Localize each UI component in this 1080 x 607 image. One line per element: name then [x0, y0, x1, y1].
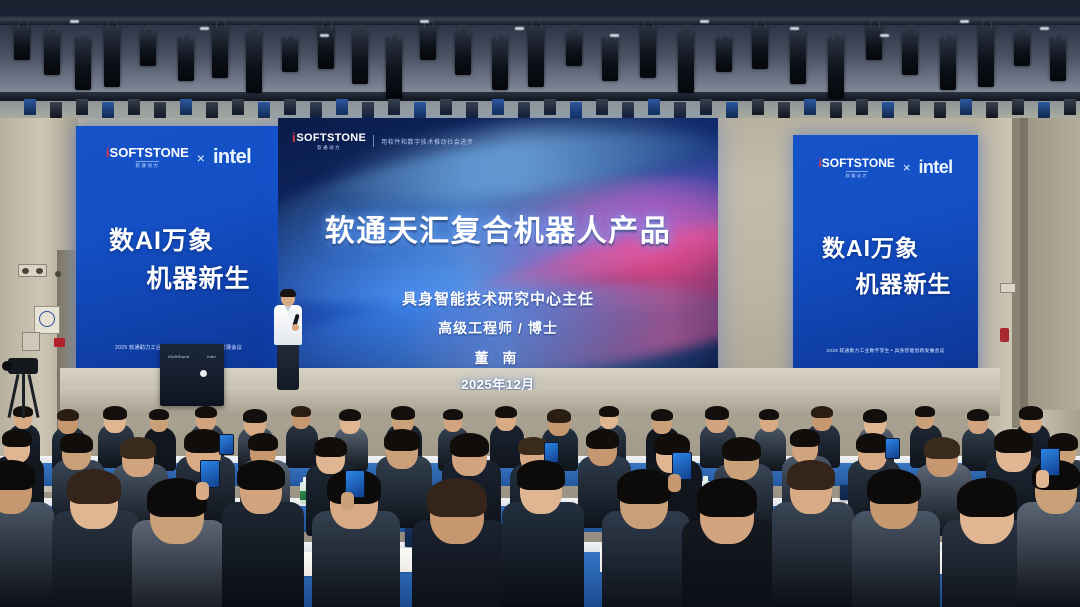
stage-light-small [1064, 99, 1076, 115]
center-logo-text: SOFTSTONE [296, 133, 366, 144]
audience-hair [924, 437, 960, 459]
audience-person-front [222, 502, 304, 607]
stage-spotlight [140, 32, 156, 66]
stage-spotlight [14, 26, 30, 60]
light-glint [420, 20, 429, 23]
audience-hair [1019, 406, 1043, 420]
audience-hair [790, 429, 820, 447]
stage-spotlight [528, 26, 544, 87]
audience-hair [60, 433, 93, 453]
stage-spotlight [246, 32, 262, 93]
audience-hair [586, 429, 619, 449]
stage-light-small [362, 102, 374, 118]
stage-light-small [466, 102, 478, 118]
stage-light-small [804, 99, 816, 115]
stage-spotlight [1014, 32, 1030, 66]
stage-light-small [778, 102, 790, 118]
stage-spotlight [104, 26, 120, 87]
stage-light-small [206, 102, 218, 118]
audience-hair [195, 406, 217, 418]
stage-light-small [232, 99, 244, 115]
audience-hair [120, 437, 156, 459]
stage-spotlight [566, 32, 582, 66]
stage-spotlight [282, 38, 298, 72]
phone-camera [885, 438, 900, 459]
wall-notice-sign [34, 306, 60, 334]
stage-spotlight [940, 38, 956, 90]
side-headline-line1-right: 数AI万象 [793, 229, 978, 263]
stage-light-small [960, 99, 972, 115]
light-glint [700, 20, 709, 23]
audience-hair [314, 437, 347, 457]
audience-hair [915, 406, 935, 417]
stage-light-small [154, 102, 166, 118]
raised-hand [1036, 470, 1049, 488]
audience-hair [391, 406, 415, 420]
logo-separator-left: × [197, 150, 205, 166]
conference-photo: iSOFTSTONE 软通动力 × intel 数AI万象 机器新生 2025 … [0, 0, 1080, 607]
light-glint [200, 27, 209, 30]
stage-light-small [50, 102, 62, 118]
light-glint [320, 34, 329, 37]
stage-light-small [674, 102, 686, 118]
light-glint [960, 20, 969, 23]
audience-hair [384, 429, 420, 451]
audience-hair [339, 409, 361, 421]
ceiling-band [0, 0, 1080, 16]
audience-person-front [502, 502, 584, 607]
stage-light-small [518, 102, 530, 118]
stage-spotlight [978, 26, 994, 87]
audience-hair [291, 406, 311, 417]
audience-hair [599, 406, 619, 417]
phone-camera [219, 434, 234, 455]
stage-spotlight [866, 26, 882, 60]
stage-spotlight [716, 38, 732, 72]
stage-light-small [622, 102, 634, 118]
stage-light-small [388, 99, 400, 115]
audience-hair [184, 429, 223, 453]
light-glint [515, 27, 524, 30]
light-glint [70, 20, 79, 23]
isoftstone-logo-center: iSOFTSTONE 软通动力 用软件和数字技术推动社会进步 [292, 131, 474, 151]
audience-area: 软通动力科技软通动力科技软通动力科技软通动力科技软通动力科技软通动力科技 [0, 352, 1080, 607]
audience-hair [759, 409, 779, 420]
fire-alarm-icon [1000, 328, 1009, 342]
audience-hair [863, 409, 887, 423]
wall-sensor-icon [55, 271, 61, 277]
intel-logo-right: intel [919, 157, 953, 178]
stage-light-small [440, 99, 452, 115]
audience-hair [495, 406, 517, 418]
stage-spotlight [790, 32, 806, 84]
stage-spotlight [640, 26, 656, 78]
video-camera-tripod [2, 358, 46, 418]
light-glint [790, 27, 799, 30]
side-headline-line2-right: 机器新生 [793, 265, 978, 299]
stage-light-small [310, 102, 322, 118]
isoftstone-logo-text-right: SOFTSTONE [822, 156, 895, 170]
light-glint [610, 34, 619, 37]
stage-light-small [1012, 99, 1024, 115]
audience-hair [248, 433, 278, 451]
audience-hair [2, 429, 32, 447]
presentation-title: 软通天汇复合机器人产品 [278, 206, 718, 250]
stage-light-small [830, 102, 842, 118]
audience-hair [443, 409, 463, 420]
audience-hair-front [427, 478, 487, 517]
logo-divider [373, 135, 374, 147]
audience-person-front [772, 502, 854, 607]
stage-spotlight [828, 38, 844, 99]
stage-light-small [128, 99, 140, 115]
audience-hair [103, 406, 127, 420]
intel-logo-left: intel [213, 146, 251, 169]
audience-hair-front [867, 469, 921, 504]
audience-hair-front [957, 478, 1017, 517]
logo-separator-right: × [903, 160, 911, 175]
isoftstone-logo-zh-right: 软通动力 [846, 171, 868, 179]
stage-light-small [284, 99, 296, 115]
stage-light-small [1038, 102, 1050, 118]
audience-hair-front [517, 460, 565, 490]
stage-spotlight [752, 26, 768, 69]
audience-hair [149, 409, 169, 420]
audience-hair-front [67, 469, 121, 504]
stage-light-small [700, 99, 712, 115]
audience-hair [994, 429, 1033, 453]
light-glint [880, 34, 889, 37]
isoftstone-logo-left: iSOFTSTONE 软通动力 [106, 146, 189, 169]
audience-person-front [1017, 502, 1080, 607]
stage-spotlight [212, 26, 228, 78]
stage-spotlight [1050, 38, 1066, 81]
stage-spotlight [386, 38, 402, 99]
stage-spotlight [492, 38, 508, 90]
audience-hair [811, 406, 833, 418]
camera-icon [8, 358, 38, 374]
emergency-light-icon [18, 264, 47, 277]
isoftstone-logo-text: SOFTSTONE [110, 145, 189, 160]
stage-light-small [544, 99, 556, 115]
side-headline-line1-left: 数AI万象 [76, 221, 281, 257]
stage-light-small [258, 102, 270, 118]
camera-lens-icon [2, 361, 12, 371]
stage-light-small [752, 99, 764, 115]
stage-spotlight [602, 38, 618, 81]
raised-hand [196, 482, 209, 500]
center-tagline: 用软件和数字技术推动社会进步 [381, 137, 473, 146]
audience-hair [547, 409, 571, 423]
audience-hair [450, 433, 489, 457]
presenter-role: 具身智能技术研究中心主任 [278, 288, 718, 309]
stage-light-small [414, 102, 426, 118]
stage-light-small [726, 102, 738, 118]
stage-light-small [596, 99, 608, 115]
audience-hair [967, 409, 989, 421]
stage-spotlight [318, 26, 334, 69]
stage-light-small [908, 99, 920, 115]
stage-spotlight [44, 32, 60, 75]
audience-hair-front [787, 460, 835, 490]
fire-extinguisher-sign [54, 338, 65, 347]
stage-light-small [856, 99, 868, 115]
led-screen-center: iSOFTSTONE 软通动力 用软件和数字技术推动社会进步 软通天汇复合机器人… [278, 118, 718, 390]
audience-hair-front [617, 469, 671, 504]
isoftstone-logo-right: iSOFTSTONE 软通动力 [818, 157, 894, 179]
audience-hair [705, 406, 729, 420]
stage-spotlight [678, 32, 694, 93]
stage-light-small [336, 99, 348, 115]
raised-hand [668, 474, 681, 492]
isoftstone-logo-zh: 软通动力 [136, 161, 160, 169]
side-headline-line2-left: 机器新生 [76, 259, 281, 295]
audience-hair [722, 437, 761, 461]
center-logo-dot: i [292, 131, 296, 144]
wall-utility-box [22, 332, 40, 351]
stage-light-small [102, 102, 114, 118]
stage-light-small [492, 99, 504, 115]
stage-light-small [648, 99, 660, 115]
stage-spotlight [455, 32, 471, 75]
stage-spotlight [352, 32, 368, 84]
audience-hair-front [697, 478, 757, 517]
presenter-credentials: 高级工程师 / 博士 [278, 318, 718, 338]
stage-light-small [882, 102, 894, 118]
audience-hair [243, 409, 267, 423]
audience-person-front [0, 502, 54, 607]
center-logo-zh: 软通动力 [292, 145, 366, 151]
stage-light-small [570, 102, 582, 118]
audience-hair [57, 409, 79, 421]
stage-spotlight [420, 26, 436, 60]
stage-light-small [934, 102, 946, 118]
stage-light-small [76, 99, 88, 115]
audience-hair [651, 409, 673, 421]
stage-spotlight [902, 32, 918, 75]
stage-spotlight [75, 38, 91, 90]
stage-light-small [180, 99, 192, 115]
raised-hand [341, 492, 354, 510]
stage-light-small [986, 102, 998, 118]
wall-plate-right [1000, 283, 1016, 293]
stage-light-small [24, 99, 36, 115]
audience-hair-front [237, 460, 285, 490]
stage-spotlight [178, 38, 194, 81]
light-glint [1040, 27, 1049, 30]
